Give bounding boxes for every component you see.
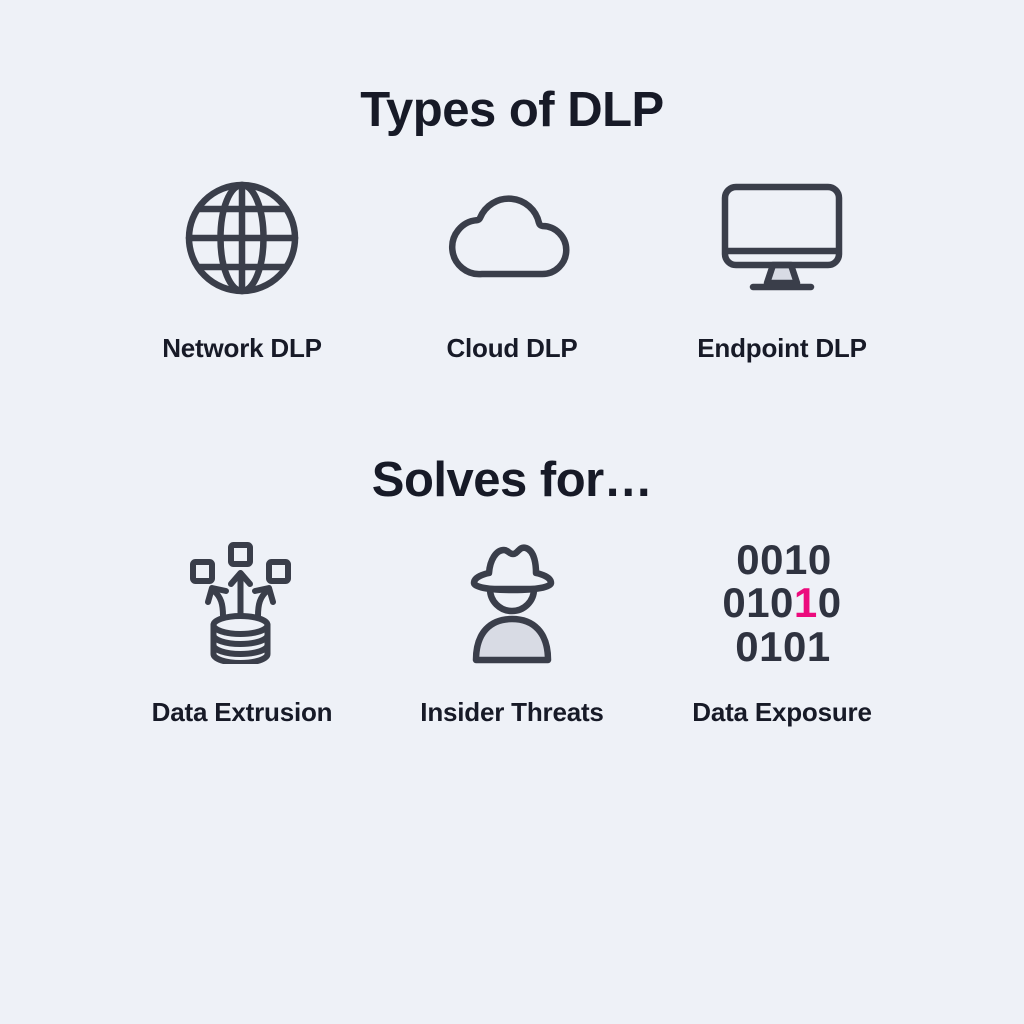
card-label: Data Extrusion [152, 697, 333, 728]
card-label: Endpoint DLP [697, 333, 866, 364]
types-of-dlp-heading: Types of DLP [360, 86, 663, 135]
binary-row-2: 01010 [722, 581, 841, 624]
card-data-extrusion[interactable]: Data Extrusion [107, 539, 377, 728]
binary-row-2-suffix: 0 [818, 579, 842, 626]
binary-row-2-prefix: 010 [722, 579, 794, 626]
cloud-icon-box [446, 173, 578, 303]
spy-person-icon [456, 542, 568, 664]
types-of-dlp-row: Network DLP Cloud DLP [0, 173, 1024, 364]
monitor-icon-box [717, 173, 847, 303]
card-insider-threats[interactable]: Insider Threats [377, 539, 647, 728]
binary-row-1: 0010 [736, 538, 831, 581]
binary-digits-icon-box: 0010 01010 0101 [722, 539, 841, 667]
binary-row-3: 0101 [735, 625, 830, 668]
monitor-icon [717, 179, 847, 297]
solves-for-row: Data Extrusion Insider Threats [0, 539, 1024, 728]
globe-icon [183, 179, 301, 297]
database-arrows-icon [187, 542, 297, 664]
card-label: Cloud DLP [446, 333, 577, 364]
card-endpoint-dlp[interactable]: Endpoint DLP [647, 173, 917, 364]
solves-for-heading: Solves for… [372, 456, 652, 505]
spy-person-icon-box [456, 539, 568, 667]
card-label: Insider Threats [420, 697, 603, 728]
card-label: Network DLP [162, 333, 322, 364]
card-network-dlp[interactable]: Network DLP [107, 173, 377, 364]
binary-accent-bit: 1 [794, 579, 818, 626]
card-data-exposure[interactable]: 0010 01010 0101 Data Exposure [647, 539, 917, 728]
card-cloud-dlp[interactable]: Cloud DLP [377, 173, 647, 364]
cloud-icon [446, 188, 578, 288]
globe-icon-box [183, 173, 301, 303]
infographic-page: Types of DLP Network DLP [0, 0, 1024, 1024]
card-label: Data Exposure [692, 697, 871, 728]
database-arrows-icon-box [187, 539, 297, 667]
binary-digits-icon: 0010 01010 0101 [722, 538, 841, 668]
